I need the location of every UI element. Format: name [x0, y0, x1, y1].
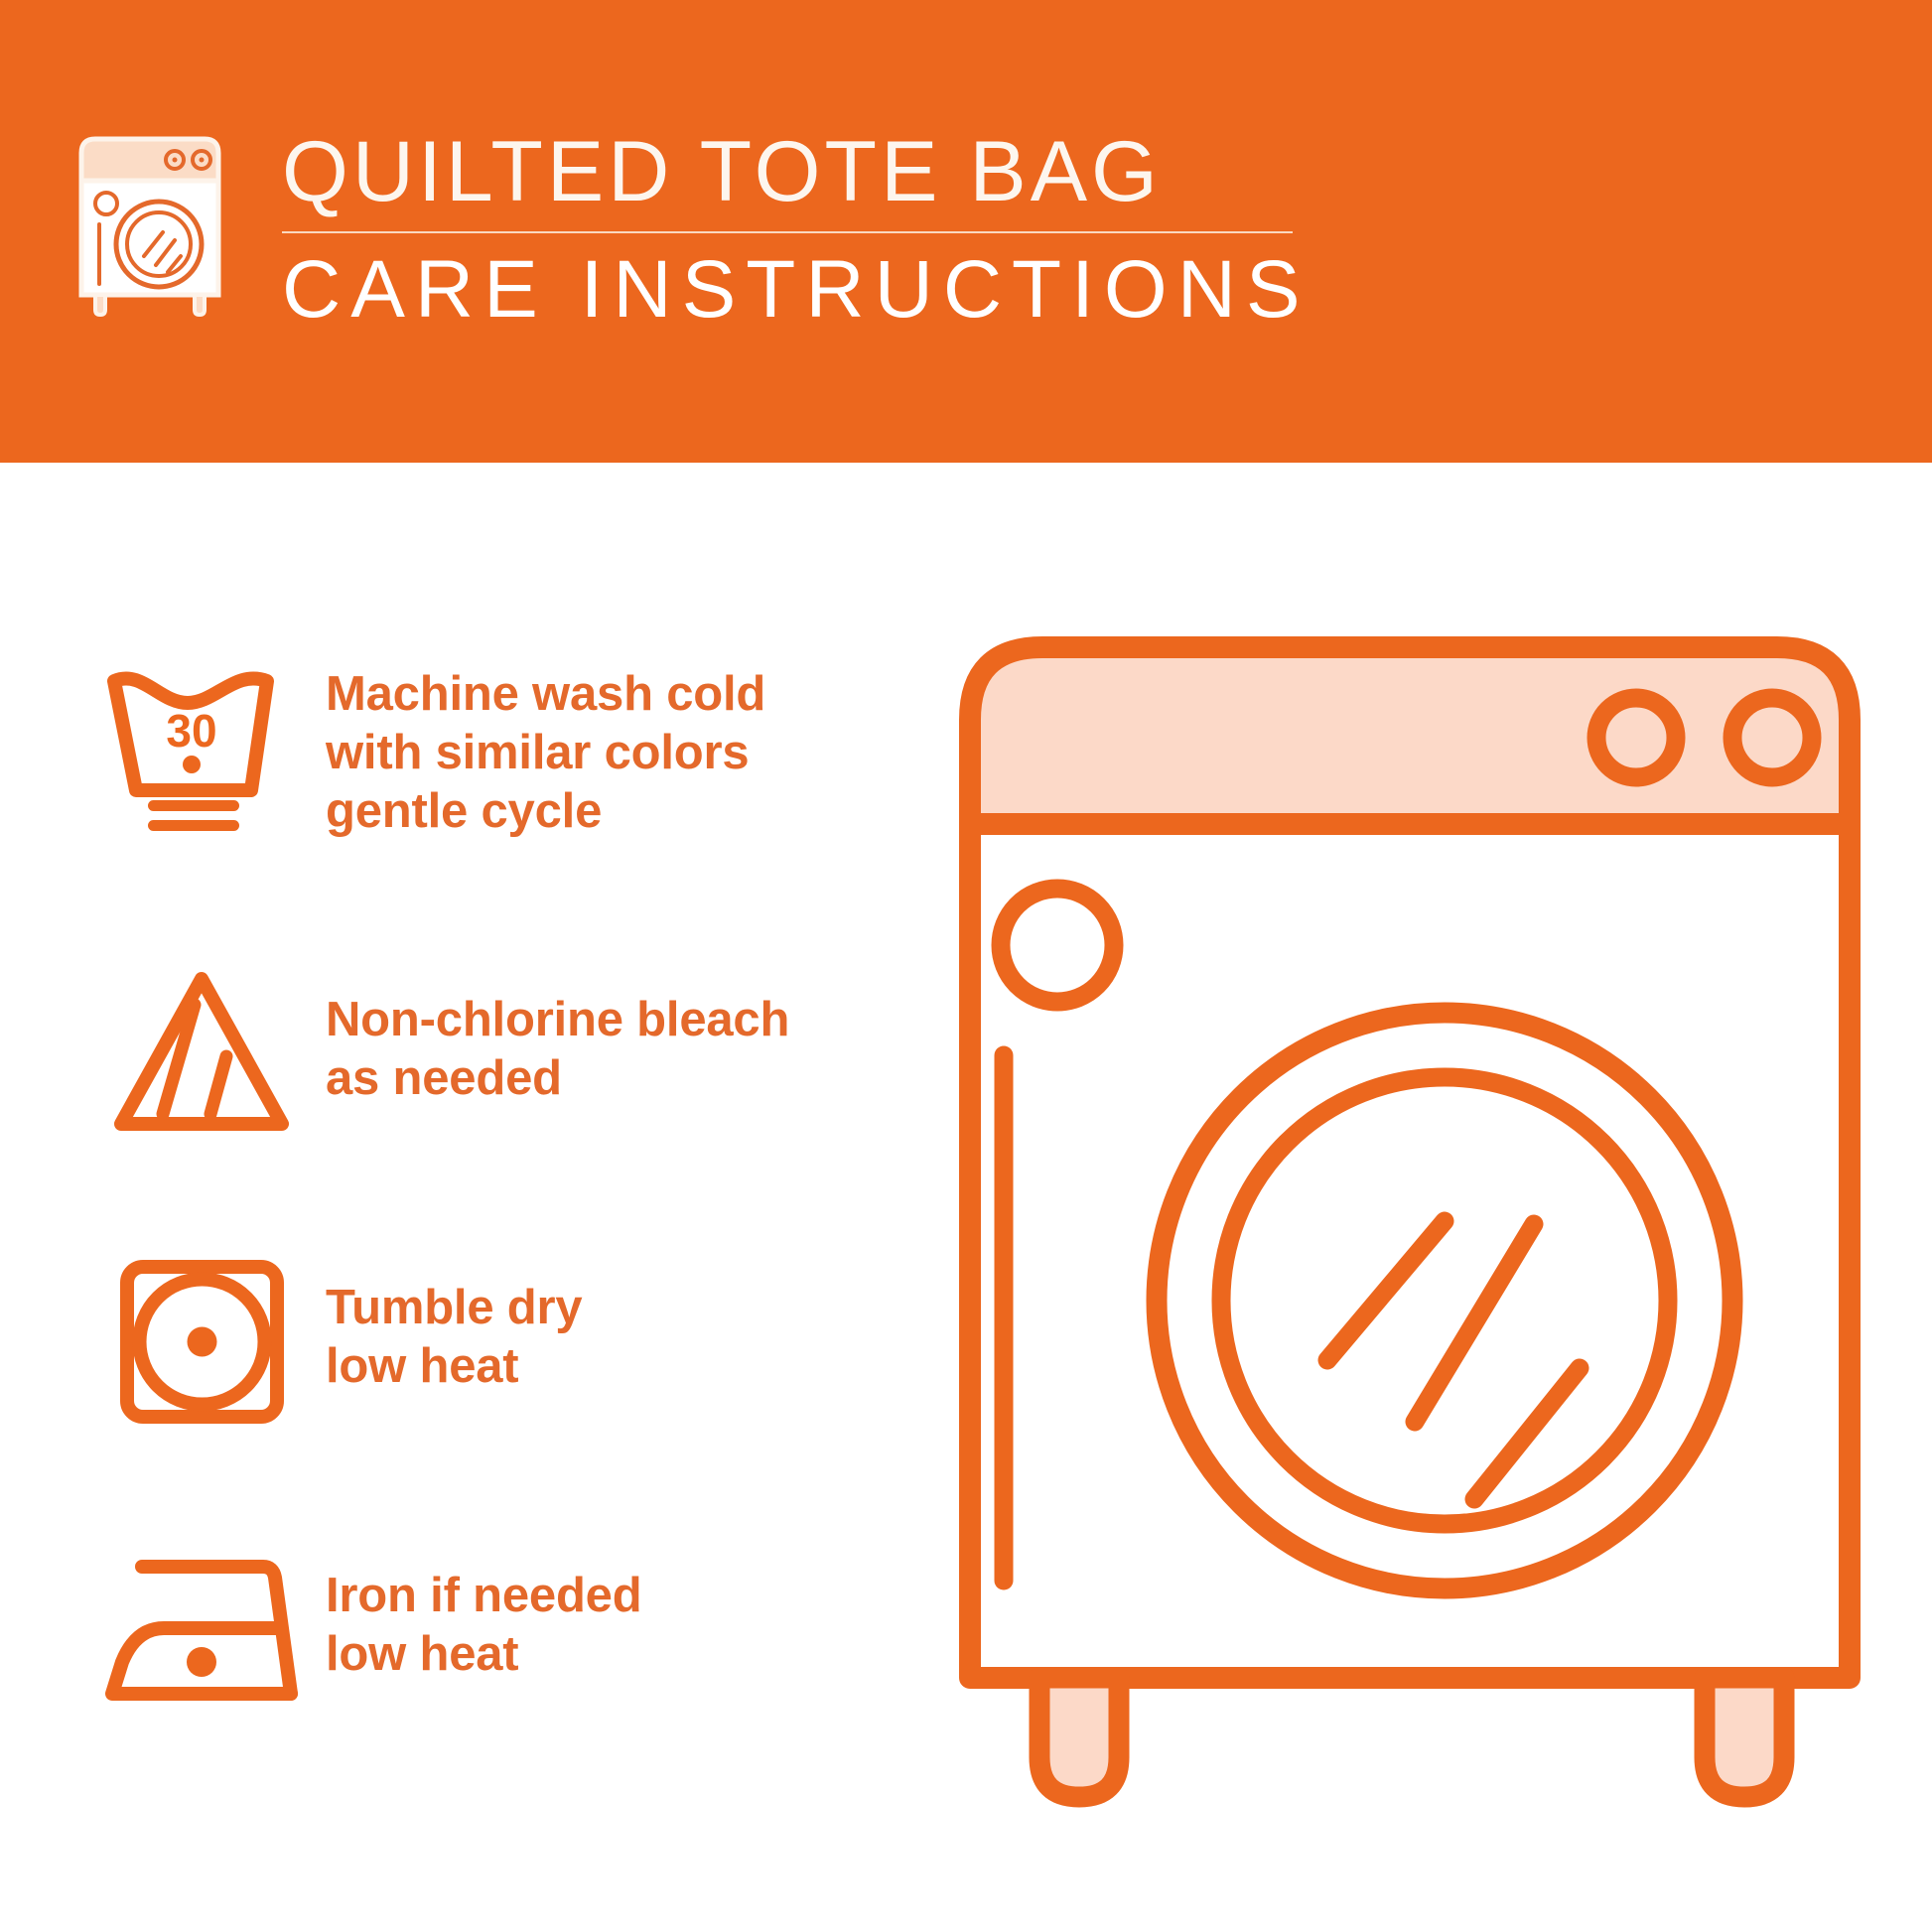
care-line: Iron if needed [326, 1567, 931, 1625]
iron-low-heat-icon [77, 1519, 326, 1709]
care-instructions-poster: QUILTED TOTE BAG CARE INSTRUCTIONS 30 [0, 0, 1932, 1932]
care-row-bleach: Non-chlorine bleach as needed [77, 943, 931, 1231]
wash-temp-label: 30 [166, 705, 216, 757]
care-line: Tumble dry [326, 1279, 931, 1337]
care-line: with similar colors [326, 724, 931, 782]
care-row-machine-wash: 30 Machine wash cold with similar colors… [77, 655, 931, 943]
header-band: QUILTED TOTE BAG CARE INSTRUCTIONS [0, 0, 1932, 463]
care-row-iron: Iron if needed low heat [77, 1519, 931, 1807]
knob-right [1732, 698, 1812, 777]
tumble-dry-low-heat-icon [77, 1231, 326, 1429]
care-text-bleach: Non-chlorine bleach as needed [326, 943, 931, 1108]
title-divider [282, 231, 1293, 233]
wash-basin-30-gentle-icon: 30 [77, 655, 326, 837]
care-line: as needed [326, 1049, 931, 1108]
care-line: low heat [326, 1625, 931, 1684]
care-instruction-list: 30 Machine wash cold with similar colors… [77, 655, 931, 1807]
knob-left [1596, 698, 1676, 777]
header-content: QUILTED TOTE BAG CARE INSTRUCTIONS [71, 127, 1293, 341]
care-line: gentle cycle [326, 782, 931, 841]
care-row-tumble-dry: Tumble dry low heat [77, 1231, 931, 1519]
washing-machine-icon [71, 133, 228, 317]
care-text-tumble-dry: Tumble dry low heat [326, 1231, 931, 1396]
leg-right [1705, 1678, 1784, 1797]
care-text-iron: Iron if needed low heat [326, 1519, 931, 1684]
front-load-washing-machine-illustration [948, 625, 1871, 1866]
header-title-block: QUILTED TOTE BAG CARE INSTRUCTIONS [282, 127, 1293, 333]
care-text-machine-wash: Machine wash cold with similar colors ge… [326, 655, 931, 841]
non-chlorine-bleach-triangle-icon [77, 943, 326, 1139]
leg-left [1039, 1678, 1119, 1797]
top-control-panel [970, 647, 1850, 824]
care-line: low heat [326, 1337, 931, 1396]
care-line: Machine wash cold [326, 665, 931, 724]
page-subtitle: CARE INSTRUCTIONS [282, 247, 1293, 333]
page-title: QUILTED TOTE BAG [282, 127, 1293, 216]
care-line: Non-chlorine bleach [326, 991, 931, 1049]
